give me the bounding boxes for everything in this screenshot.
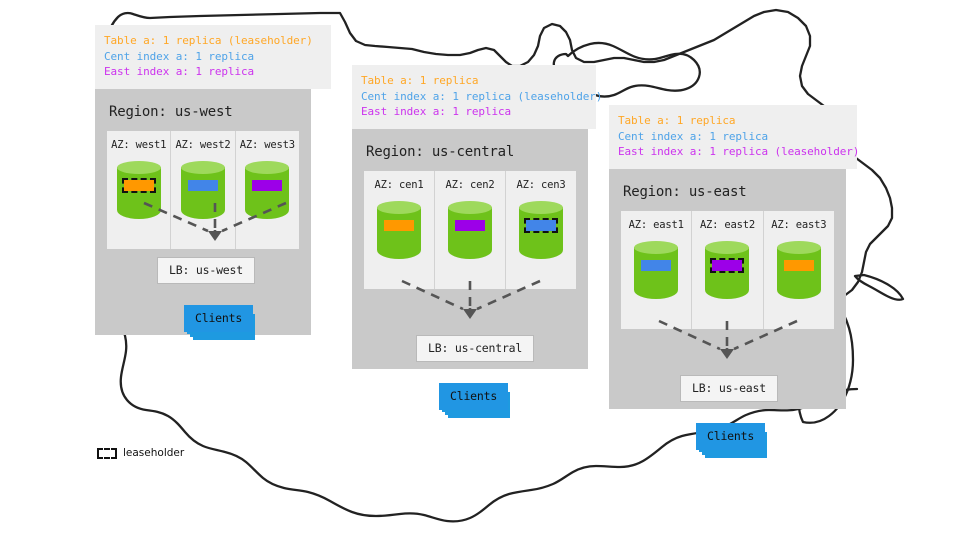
az-label-east2: AZ: east2 [700,219,755,231]
load-balancer-us-west[interactable]: LB: us-west [157,257,255,284]
region-cluster-us-west: Table a: 1 replica (leaseholder) Cent in… [95,25,335,335]
replica-line-east-index: East index a: 1 replica [104,64,322,80]
load-balancer-label: LB: us-west [169,263,243,277]
replica-summary-us-central: Table a: 1 replica Cent index a: 1 repli… [352,65,596,129]
cylinder-body-icon [181,167,225,219]
cylinder-top-icon [117,161,161,174]
region-title-us-central: Region: us-central [364,139,576,171]
database-cylinder-cen1[interactable] [377,201,421,265]
diagram-canvas: Table a: 1 replica (leaseholder) Cent in… [0,0,960,540]
az-cell-east2[interactable]: AZ: east2 [692,211,763,329]
replica-chip-east3 [784,260,814,271]
replica-line-cent-index: Cent index a: 1 replica [104,49,322,65]
cylinder-top-icon [448,201,492,214]
leaseholder-legend: leaseholder [97,447,184,459]
clients-label: Clients [450,389,497,403]
cylinder-body-icon [448,207,492,259]
cylinder-body-icon [377,207,421,259]
replica-chip-west2 [188,180,218,191]
replica-chip-west3 [252,180,282,191]
az-cell-east1[interactable]: AZ: east1 [621,211,692,329]
cylinder-body-icon [777,247,821,299]
clients-label-box[interactable]: Clients [439,383,508,410]
region-cluster-us-central: Table a: 1 replica Cent index a: 1 repli… [352,65,592,369]
dashed-rect-icon [97,448,117,459]
az-label-cen3: AZ: cen3 [517,179,566,191]
az-cell-west2[interactable]: AZ: west2 [171,131,235,249]
clients-node-us-west[interactable]: Clients [184,305,253,332]
az-label-west1: AZ: west1 [111,139,166,151]
az-label-east1: AZ: east1 [629,219,684,231]
database-cylinder-west3[interactable] [245,161,289,225]
az-label-cen1: AZ: cen1 [375,179,424,191]
load-balancer-label: LB: us-east [692,381,766,395]
az-cell-cen2[interactable]: AZ: cen2 [435,171,506,289]
load-balancer-us-east[interactable]: LB: us-east [680,375,778,402]
database-cylinder-cen2[interactable] [448,201,492,265]
replica-chip-cen1 [384,220,414,231]
replica-chip-east2 [712,260,742,271]
replica-line-table: Table a: 1 replica [618,113,848,129]
clients-label: Clients [707,429,754,443]
az-cell-cen1[interactable]: AZ: cen1 [364,171,435,289]
database-cylinder-east3[interactable] [777,241,821,305]
az-row-us-east: AZ: east1 AZ: east2 AZ [621,211,834,329]
az-row-us-west: AZ: west1 AZ: west2 AZ [107,131,299,249]
replica-line-cent-index: Cent index a: 1 replica [618,129,848,145]
replica-chip-east1 [641,260,671,271]
az-label-cen2: AZ: cen2 [446,179,495,191]
az-cell-cen3[interactable]: AZ: cen3 [506,171,576,289]
cylinder-top-icon [245,161,289,174]
database-cylinder-east2[interactable] [705,241,749,305]
database-cylinder-west2[interactable] [181,161,225,225]
replica-chip-cen2 [455,220,485,231]
region-title-us-east: Region: us-east [621,179,834,211]
replica-line-cent-index: Cent index a: 1 replica (leaseholder) [361,89,587,105]
az-cell-east3[interactable]: AZ: east3 [764,211,834,329]
replica-line-east-index: East index a: 1 replica (leaseholder) [618,144,848,160]
leaseholder-legend-label: leaseholder [123,447,184,459]
cylinder-body-icon [245,167,289,219]
clients-label-box[interactable]: Clients [696,423,765,450]
database-cylinder-cen3[interactable] [519,201,563,265]
az-cell-west1[interactable]: AZ: west1 [107,131,171,249]
cylinder-body-icon [117,167,161,219]
cylinder-top-icon [181,161,225,174]
region-panel-us-east: Region: us-east AZ: east1 AZ: east2 [609,169,846,409]
replica-line-table: Table a: 1 replica [361,73,587,89]
az-row-us-central: AZ: cen1 AZ: cen2 AZ: [364,171,576,289]
cylinder-top-icon [705,241,749,254]
region-title-us-west: Region: us-west [107,99,299,131]
cylinder-top-icon [634,241,678,254]
cylinder-body-icon [705,247,749,299]
clients-node-us-central[interactable]: Clients [439,383,508,410]
database-cylinder-east1[interactable] [634,241,678,305]
database-cylinder-west1[interactable] [117,161,161,225]
replica-chip-west1 [124,180,154,191]
replica-summary-us-west: Table a: 1 replica (leaseholder) Cent in… [95,25,331,89]
clients-label: Clients [195,311,242,325]
cylinder-top-icon [377,201,421,214]
az-label-east3: AZ: east3 [771,219,826,231]
replica-line-east-index: East index a: 1 replica [361,104,587,120]
clients-label-box[interactable]: Clients [184,305,253,332]
load-balancer-us-central[interactable]: LB: us-central [416,335,534,362]
az-cell-west3[interactable]: AZ: west3 [236,131,299,249]
replica-summary-us-east: Table a: 1 replica Cent index a: 1 repli… [609,105,857,169]
clients-node-us-east[interactable]: Clients [696,423,765,450]
replica-chip-cen3 [526,220,556,231]
replica-line-table: Table a: 1 replica (leaseholder) [104,33,322,49]
load-balancer-label: LB: us-central [428,341,522,355]
region-cluster-us-east: Table a: 1 replica Cent index a: 1 repli… [609,105,849,409]
region-panel-us-west: Region: us-west AZ: west1 AZ: west2 [95,89,311,335]
az-label-west2: AZ: west2 [175,139,230,151]
cylinder-body-icon [519,207,563,259]
cylinder-body-icon [634,247,678,299]
cylinder-top-icon [777,241,821,254]
cylinder-top-icon [519,201,563,214]
az-label-west3: AZ: west3 [240,139,295,151]
region-panel-us-central: Region: us-central AZ: cen1 AZ: cen2 [352,129,588,369]
